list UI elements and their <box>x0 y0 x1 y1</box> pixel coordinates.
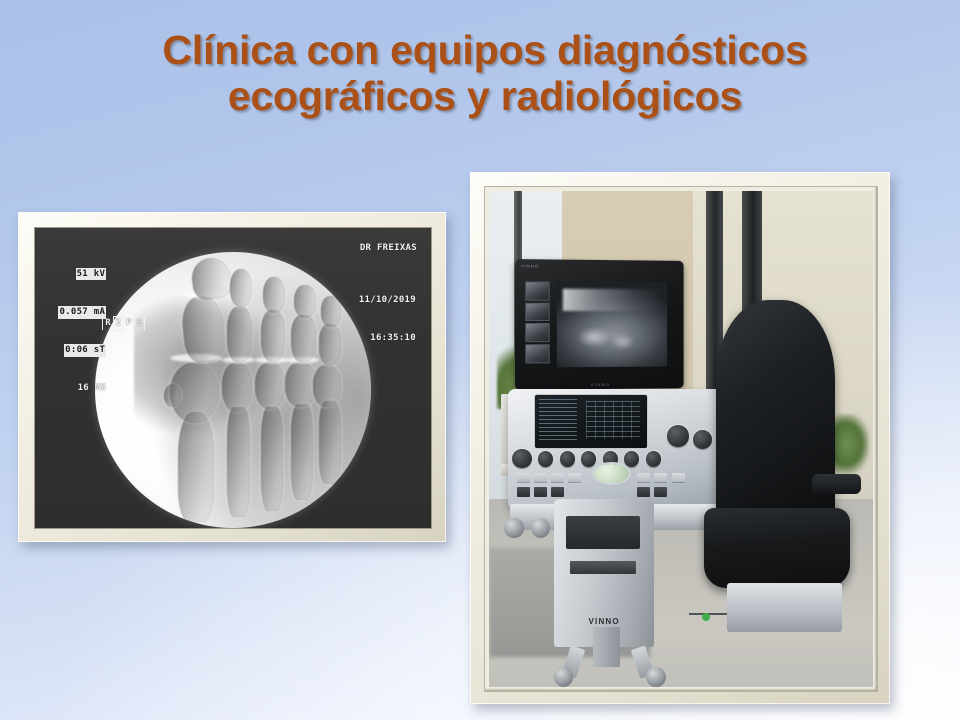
machine-caster <box>646 667 665 687</box>
console-trackball <box>594 464 628 483</box>
console-knob <box>646 451 661 466</box>
console-knob <box>693 430 712 449</box>
console-knob <box>560 451 575 466</box>
ultrasound-monitor: VINNO VINNO <box>515 260 684 391</box>
ultrasound-picture-frame[interactable]: VINNO VINNO <box>470 172 890 704</box>
slide-canvas: Clínica con equipos diagnósticos ecográf… <box>0 0 960 720</box>
console-knob <box>512 449 531 468</box>
ultrasound-scan-image <box>556 282 667 368</box>
machine-slot <box>570 561 636 574</box>
xray-picture-frame[interactable]: 51 kV 0.057 mA 0:06 sT 16 MS R2PS DR FRE… <box>18 212 446 542</box>
console-knob <box>538 451 553 466</box>
xray-date: 11/10/2019 <box>359 294 416 307</box>
console-knob <box>667 425 689 446</box>
xray-doctor-name: DR FREIXAS <box>360 242 417 255</box>
monitor-thumbnail <box>525 303 549 322</box>
console-button <box>551 487 564 497</box>
console-button <box>517 473 530 483</box>
console-button <box>534 487 547 497</box>
console-touchscreen <box>534 394 648 448</box>
console-button <box>551 473 564 483</box>
xray-ms-value: 16 MS <box>78 383 107 393</box>
monitor-bottom-brand-label: VINNO <box>591 382 611 387</box>
console-button <box>654 473 667 483</box>
ultrasound-machine-body: VINNO <box>554 499 654 648</box>
monitor-thumbnail <box>525 344 549 363</box>
machine-printer <box>566 516 640 549</box>
exam-chair-base <box>727 583 842 633</box>
xray-position-markers: R2PS <box>48 303 144 343</box>
xray-time: 16:35:10 <box>359 332 416 345</box>
exam-chair-armrest <box>812 474 862 494</box>
console-button <box>637 487 650 497</box>
xray-collimated-field <box>95 252 371 528</box>
console-button <box>654 487 667 497</box>
machine-column <box>593 627 620 667</box>
monitor-brand-label: VINNO <box>521 264 539 269</box>
ultrasound-room-photo: VINNO VINNO <box>489 191 873 687</box>
xray-image: 51 kV 0.057 mA 0:06 sT 16 MS R2PS DR FRE… <box>35 228 431 528</box>
exam-chair-seat <box>704 508 850 587</box>
title-line-1: Clínica con equipos diagnósticos <box>55 28 915 74</box>
console-button <box>637 473 650 483</box>
xray-image-mat: 51 kV 0.057 mA 0:06 sT 16 MS R2PS DR FRE… <box>34 227 432 529</box>
console-button <box>534 473 547 483</box>
page-title: Clínica con equipos diagnósticos ecográf… <box>55 28 915 120</box>
status-indicator-light <box>702 613 710 621</box>
xray-datetime-overlay: 11/10/2019 16:35:10 <box>359 268 416 370</box>
console-button <box>568 473 581 483</box>
exam-chair-backrest <box>716 300 835 533</box>
monitor-thumbnail <box>525 324 549 343</box>
xray-kv-value: 51 kV <box>76 268 107 281</box>
xray-time-value: 0:06 sT <box>64 344 106 357</box>
console-button <box>517 487 530 497</box>
monitor-thumbnail <box>525 282 549 301</box>
ultrasound-image-mat: VINNO VINNO <box>484 186 878 692</box>
console-button <box>672 473 685 483</box>
title-line-2: ecográficos y radiológicos <box>55 74 915 120</box>
marker-s: S <box>133 317 144 330</box>
console-knob <box>624 451 639 466</box>
machine-caster <box>504 518 523 538</box>
console-knob <box>581 451 596 466</box>
machine-brand-label: VINNO <box>589 617 620 626</box>
